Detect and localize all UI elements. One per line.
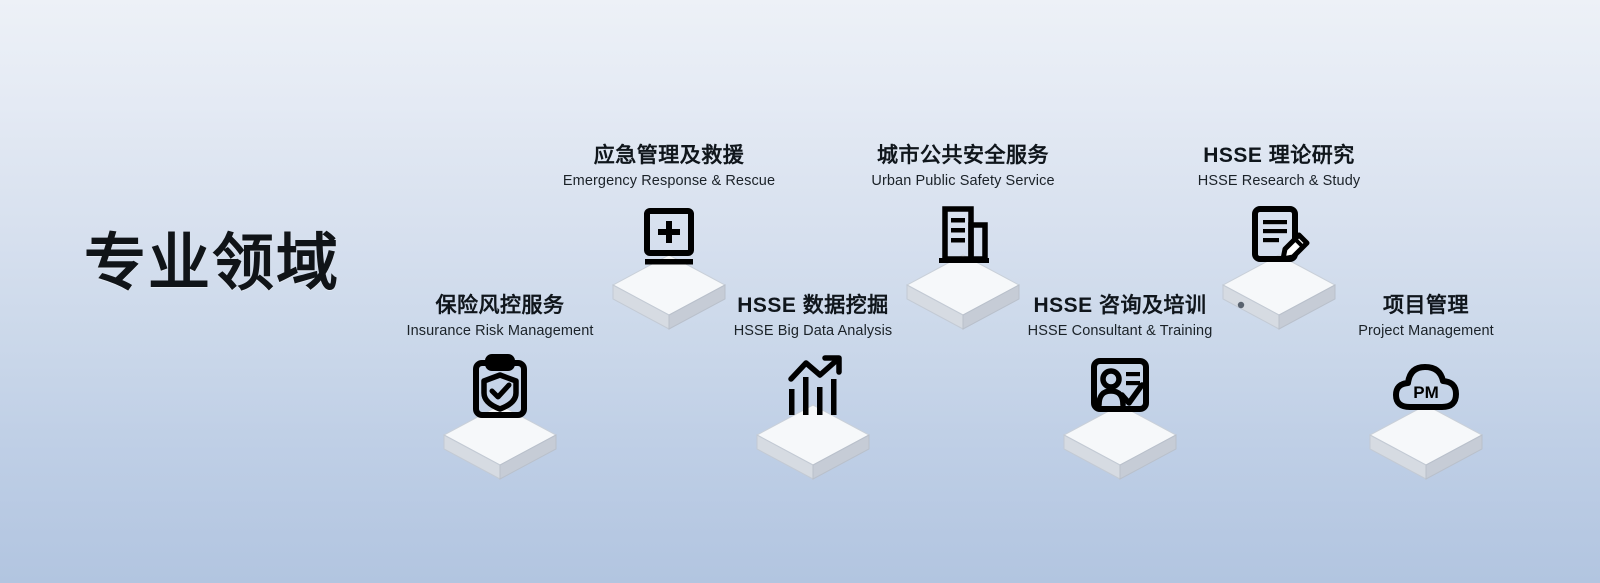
domain-label-cn: HSSE 理论研究: [1129, 143, 1429, 169]
domain-label-en: Project Management: [1276, 322, 1576, 341]
bar-chart-trend-icon: [779, 355, 847, 433]
domain-label-en: HSSE Consultant & Training: [970, 322, 1270, 341]
domain-icon-block: [970, 355, 1270, 485]
domain-label-en: Emergency Response & Rescue: [519, 172, 819, 191]
domain-label-cn: 应急管理及救援: [519, 143, 819, 169]
professional-domains-banner: 专业领域 应急管理及救援 Emergency Response & Rescue: [0, 0, 1600, 583]
domain-label-en: HSSE Research & Study: [1129, 172, 1429, 191]
domain-item-hsse-consultant[interactable]: HSSE 咨询及培训 HSSE Consultant & Training: [970, 293, 1270, 485]
domain-label-en: Urban Public Safety Service: [813, 172, 1113, 191]
person-card-check-icon: [1086, 355, 1154, 433]
domain-item-hsse-big-data[interactable]: HSSE 数据挖掘 HSSE Big Data Analysis: [663, 293, 963, 485]
domain-item-insurance-risk[interactable]: 保险风控服务 Insurance Risk Management: [350, 293, 650, 485]
domain-item-project-management[interactable]: 项目管理 Project Management PM: [1276, 293, 1576, 485]
emergency-kit-icon: [635, 205, 703, 283]
cloud-pm-icon: PM: [1392, 355, 1460, 433]
domain-icon-block: [350, 355, 650, 485]
domain-label-cn: 项目管理: [1276, 293, 1576, 319]
domain-icon-block: [663, 355, 963, 485]
page-title: 专业领域: [84, 228, 340, 299]
city-buildings-icon: [929, 205, 997, 283]
domain-label-cn: HSSE 数据挖掘: [663, 293, 963, 319]
domain-label-en: HSSE Big Data Analysis: [663, 322, 963, 341]
domain-label-cn: HSSE 咨询及培训: [970, 293, 1270, 319]
clipboard-shield-check-icon: [466, 355, 534, 433]
domain-label-cn: 保险风控服务: [350, 293, 650, 319]
document-pencil-icon: [1245, 205, 1313, 283]
svg-text:PM: PM: [1413, 383, 1439, 402]
domain-icon-block: PM: [1276, 355, 1576, 485]
domain-label-cn: 城市公共安全服务: [813, 143, 1113, 169]
domain-label-en: Insurance Risk Management: [350, 322, 650, 341]
